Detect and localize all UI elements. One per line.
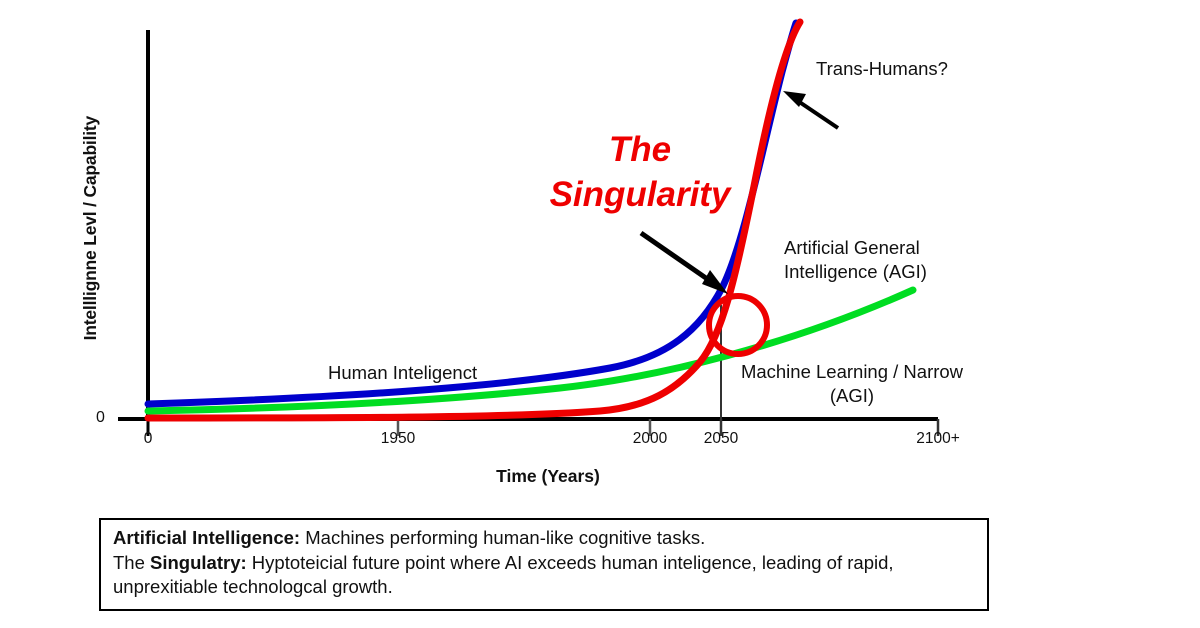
agi-line-1: Artificial General (784, 237, 920, 258)
x-tick-label-2100: 2100+ (898, 430, 978, 448)
x-tick-label-0: 0 (108, 430, 188, 448)
y-axis-label: Intelllignne Levl / Capability (80, 78, 100, 378)
series-line-ml (148, 22, 800, 418)
x-axis-label: Time (Years) (398, 466, 698, 486)
ml-line-1: Machine Learning / Narrow (741, 361, 963, 382)
y-tick-label-0: 0 (96, 409, 105, 427)
x-tick-label-1950: 1950 (358, 430, 438, 448)
singularity-line-1: The (609, 130, 671, 169)
caption-line-ai: Artificial Intelligence: Machines perfor… (113, 526, 975, 551)
agi-line-2: Intelligence (AGI) (784, 261, 927, 282)
caption-line-singularity: The Singulatry: Hyptoteicial future poin… (113, 551, 975, 600)
singularity-arrow (641, 233, 728, 294)
caption-ai-term: Artificial Intelligence: (113, 527, 300, 548)
x-tick-label-2050: 2050 (681, 430, 761, 448)
human-intelligence-annotation: Human Inteligenct (328, 362, 477, 383)
trans-humans-annotation: Trans-Humans? (816, 58, 948, 79)
singularity-annotation: TheSingularity (520, 128, 760, 218)
x-tick-label-2000: 2000 (610, 430, 690, 448)
trans-humans-arrow (783, 91, 838, 128)
singularity-line-2: Singularity (550, 175, 731, 214)
caption-singularity-prefix: The (113, 552, 150, 573)
chart-canvas: Intelllignne Levl / Capability Time (Yea… (0, 0, 1200, 628)
caption-box: Artificial Intelligence: Machines perfor… (99, 518, 989, 611)
ml-line-2: (AGI) (830, 385, 874, 406)
agi-annotation: Artificial GeneralIntelligence (AGI) (784, 236, 927, 284)
caption-singularity-term: Singulatry: (150, 552, 247, 573)
machine-learning-annotation: Machine Learning / Narrow(AGI) (734, 360, 970, 408)
caption-ai-definition: Machines performing human-like cognitive… (300, 527, 705, 548)
